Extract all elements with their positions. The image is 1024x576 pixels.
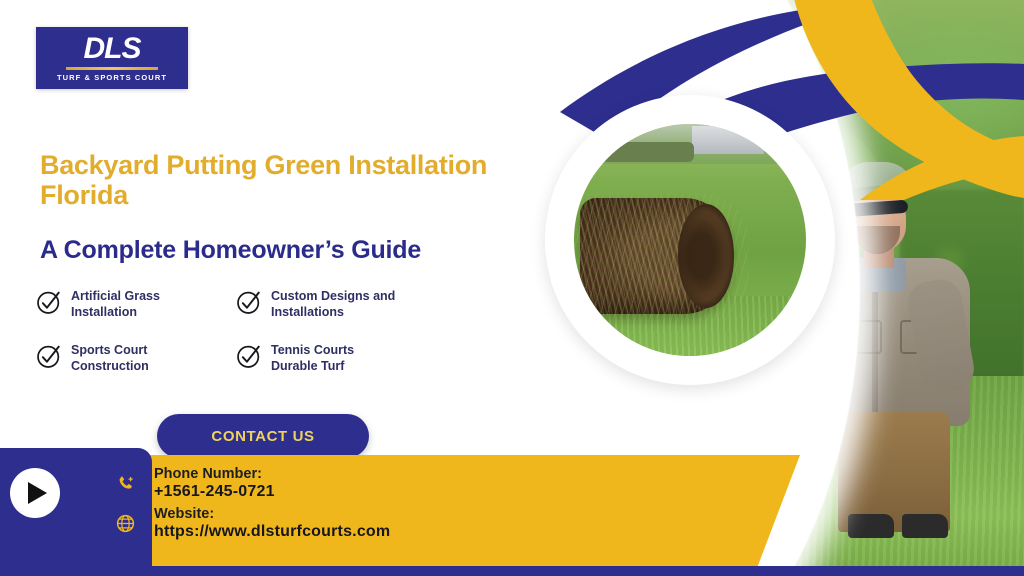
person-boot-right — [902, 514, 948, 538]
feature-line-1: Sports Court — [71, 343, 149, 359]
circle-photo-image — [574, 124, 806, 356]
feature-line-2: Installation — [71, 305, 160, 321]
feature-item-custom-designs: Custom Designs and Installations — [236, 288, 476, 320]
page-subtitle: A Complete Homeowner’s Guide — [40, 236, 540, 265]
circle-photo-sod-roll — [545, 95, 835, 385]
phone-glyph — [116, 474, 135, 493]
page-title: Backyard Putting Green Installation Flor… — [40, 150, 540, 210]
play-button[interactable] — [10, 468, 60, 518]
bottom-navy-strip — [0, 566, 1024, 576]
check-circle-icon — [36, 289, 62, 315]
globe-icon — [108, 507, 142, 541]
phone-value: +1561-245-0721 — [154, 483, 275, 502]
marketing-banner: DLS TURF & SPORTS COURT Backyard Putting… — [0, 0, 1024, 576]
play-icon — [28, 482, 47, 504]
feature-item-artificial-grass: Artificial Grass Installation — [36, 288, 236, 320]
logo-tagline: TURF & SPORTS COURT — [57, 73, 167, 82]
logo-divider-rule — [66, 67, 158, 70]
feature-line-2: Durable Turf — [271, 359, 354, 375]
feature-item-sports-court: Sports Court Construction — [36, 342, 236, 374]
feature-label: Custom Designs and Installations — [271, 288, 395, 320]
website-value: https://www.dlsturfcourts.com — [154, 523, 390, 542]
feature-list: Artificial Grass Installation Custom Des… — [36, 288, 506, 375]
contact-row-website[interactable]: Website: https://www.dlsturfcourts.com — [108, 506, 538, 542]
phone-text-block: Phone Number: +1561-245-0721 — [154, 466, 275, 502]
person-boot-left — [848, 514, 894, 538]
website-label: Website: — [154, 506, 390, 523]
feature-line-2: Installations — [271, 305, 395, 321]
feature-label: Tennis Courts Durable Turf — [271, 342, 354, 374]
check-circle-icon — [36, 343, 62, 369]
feature-line-1: Tennis Courts — [271, 343, 354, 359]
contact-us-button[interactable]: CONTACT US — [157, 414, 369, 458]
photo-hedgerow — [602, 142, 694, 162]
website-text-block: Website: https://www.dlsturfcourts.com — [154, 506, 390, 542]
contact-row-phone[interactable]: Phone Number: +1561-245-0721 — [108, 466, 538, 502]
contact-info: Phone Number: +1561-245-0721 Website: ht… — [108, 466, 538, 546]
check-circle-icon — [236, 343, 262, 369]
sod-roll-end — [678, 204, 734, 308]
brand-logo[interactable]: DLS TURF & SPORTS COURT — [36, 27, 188, 89]
phone-icon — [108, 467, 142, 501]
feature-label: Sports Court Construction — [71, 342, 149, 374]
feature-line-1: Artificial Grass — [71, 289, 160, 305]
feature-item-tennis-courts: Tennis Courts Durable Turf — [236, 342, 476, 374]
feature-label: Artificial Grass Installation — [71, 288, 160, 320]
globe-glyph — [115, 513, 136, 534]
feature-line-1: Custom Designs and — [271, 289, 395, 305]
photo-building — [692, 126, 764, 154]
feature-line-2: Construction — [71, 359, 149, 375]
check-circle-icon — [236, 289, 262, 315]
logo-wordmark: DLS — [84, 34, 141, 64]
phone-label: Phone Number: — [154, 466, 275, 483]
